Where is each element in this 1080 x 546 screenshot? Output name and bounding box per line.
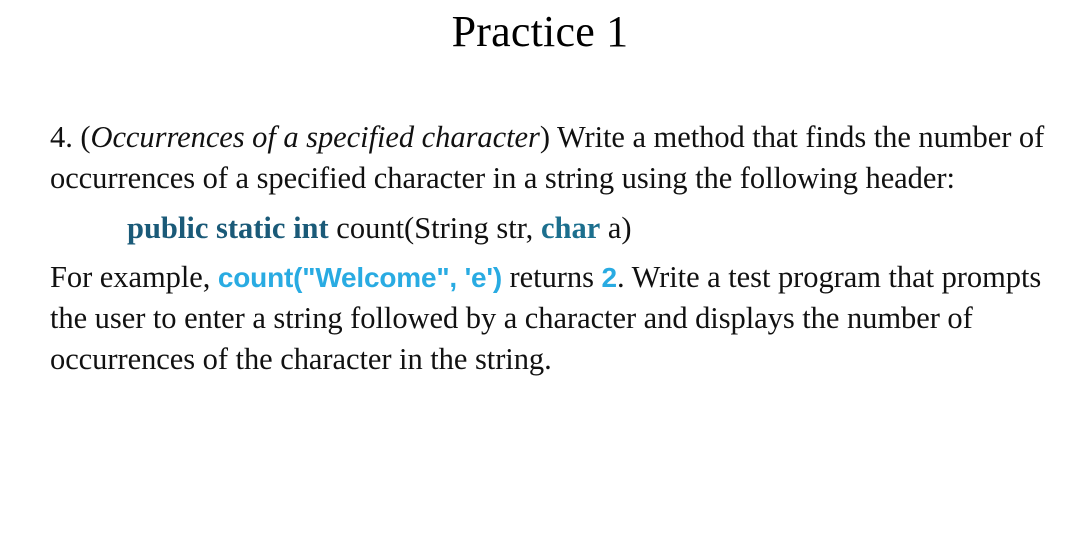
example-middle: returns (502, 260, 602, 294)
example-paragraph: For example, count("Welcome", 'e') retur… (50, 257, 1062, 380)
page-title: Practice 1 (0, 8, 1080, 56)
signature-method-close: a) (600, 211, 631, 245)
signature-param-type: char (541, 211, 600, 245)
example-lead: For example, (50, 260, 218, 294)
example-result: 2 (601, 262, 617, 293)
signature-modifiers: public static int (127, 211, 329, 245)
question-close-paren: ) (540, 120, 557, 154)
signature-method-open: count(String str, (329, 211, 541, 245)
question-topic: Occurrences of a specified character (90, 120, 539, 154)
question-body: 4. (Occurrences of a specified character… (50, 117, 1062, 380)
method-signature: public static int count(String str, char… (50, 208, 1062, 249)
question-statement: 4. (Occurrences of a specified character… (50, 117, 1062, 199)
question-number: 4. ( (50, 120, 90, 154)
slide-canvas: Practice 1 4. (Occurrences of a specifie… (0, 0, 1080, 546)
example-call: count("Welcome", 'e') (218, 262, 502, 293)
